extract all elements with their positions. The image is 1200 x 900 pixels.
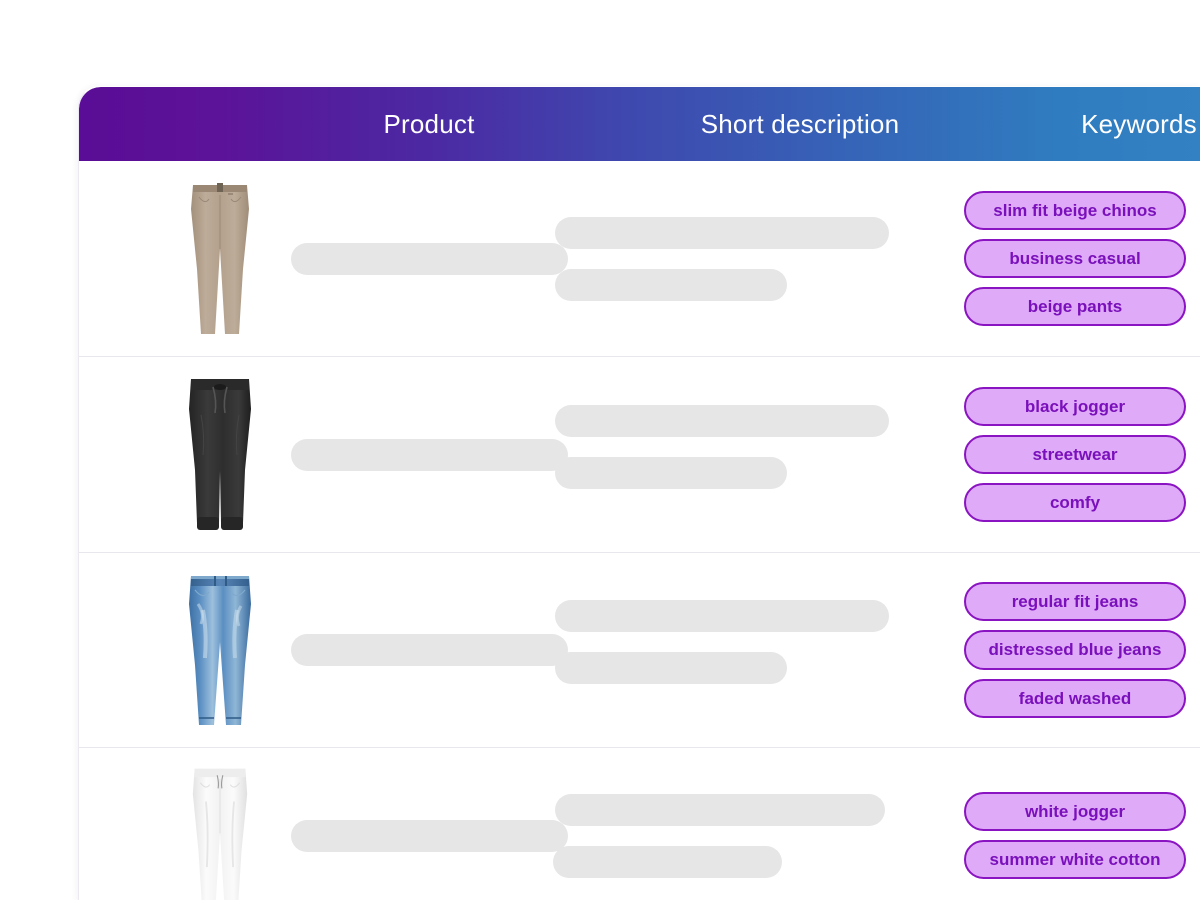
description-placeholder-line-2 bbox=[555, 457, 787, 489]
description-placeholder-line-1 bbox=[555, 405, 889, 437]
product-cell bbox=[101, 553, 511, 747]
keywords-cell: white jogger summer white cotton bbox=[949, 748, 1200, 900]
description-placeholder-line-1 bbox=[555, 794, 885, 826]
short-description-cell bbox=[555, 357, 935, 552]
short-description-cell bbox=[555, 748, 935, 900]
product-name-placeholder bbox=[291, 820, 568, 852]
keyword-pill[interactable]: distressed blue jeans bbox=[964, 630, 1186, 669]
table-header: Product Short description Keywords bbox=[79, 87, 1200, 161]
table-row[interactable]: slim fit beige chinos business casual be… bbox=[79, 161, 1200, 357]
keyword-pill[interactable]: regular fit jeans bbox=[964, 582, 1186, 621]
short-description-cell bbox=[555, 161, 935, 356]
keywords-cell: black jogger streetwear comfy bbox=[949, 357, 1200, 552]
column-header-short-description: Short description bbox=[647, 87, 953, 161]
product-table-card: Product Short description Keywords bbox=[78, 86, 1200, 900]
column-header-product: Product bbox=[211, 87, 647, 161]
keyword-pill[interactable]: comfy bbox=[964, 483, 1186, 522]
description-placeholder-line-1 bbox=[555, 600, 889, 632]
beige-chinos-image bbox=[181, 179, 259, 339]
description-placeholder-line-2 bbox=[555, 652, 787, 684]
product-name-placeholder bbox=[291, 439, 568, 471]
keywords-cell: regular fit jeans distressed blue jeans … bbox=[949, 553, 1200, 747]
product-name-placeholder bbox=[291, 243, 568, 275]
description-placeholder-line-2 bbox=[555, 269, 787, 301]
product-cell bbox=[101, 357, 511, 552]
keyword-pill[interactable]: summer white cotton bbox=[964, 840, 1186, 879]
table-row[interactable]: white jogger summer white cotton bbox=[79, 748, 1200, 900]
description-placeholder-line-2 bbox=[553, 846, 782, 878]
keyword-pill[interactable]: slim fit beige chinos bbox=[964, 191, 1186, 230]
product-cell bbox=[101, 161, 511, 356]
keywords-cell: slim fit beige chinos business casual be… bbox=[949, 161, 1200, 356]
keyword-pill[interactable]: business casual bbox=[964, 239, 1186, 278]
table-row[interactable]: regular fit jeans distressed blue jeans … bbox=[79, 553, 1200, 748]
product-cell bbox=[101, 748, 511, 900]
keyword-pill[interactable]: white jogger bbox=[964, 792, 1186, 831]
product-name-placeholder bbox=[291, 634, 568, 666]
short-description-cell bbox=[555, 553, 935, 747]
keyword-pill[interactable]: black jogger bbox=[964, 387, 1186, 426]
keyword-pill[interactable]: beige pants bbox=[964, 287, 1186, 326]
table-row[interactable]: black jogger streetwear comfy bbox=[79, 357, 1200, 553]
description-placeholder-line-1 bbox=[555, 217, 889, 249]
column-header-keywords: Keywords bbox=[953, 87, 1200, 161]
product-keywords-table-page: Product Short description Keywords bbox=[0, 0, 1200, 900]
keyword-pill[interactable]: streetwear bbox=[964, 435, 1186, 474]
blue-jeans-image bbox=[181, 570, 259, 730]
white-joggers-image bbox=[181, 764, 259, 900]
black-joggers-image bbox=[181, 375, 259, 535]
keyword-pill[interactable]: faded washed bbox=[964, 679, 1186, 718]
